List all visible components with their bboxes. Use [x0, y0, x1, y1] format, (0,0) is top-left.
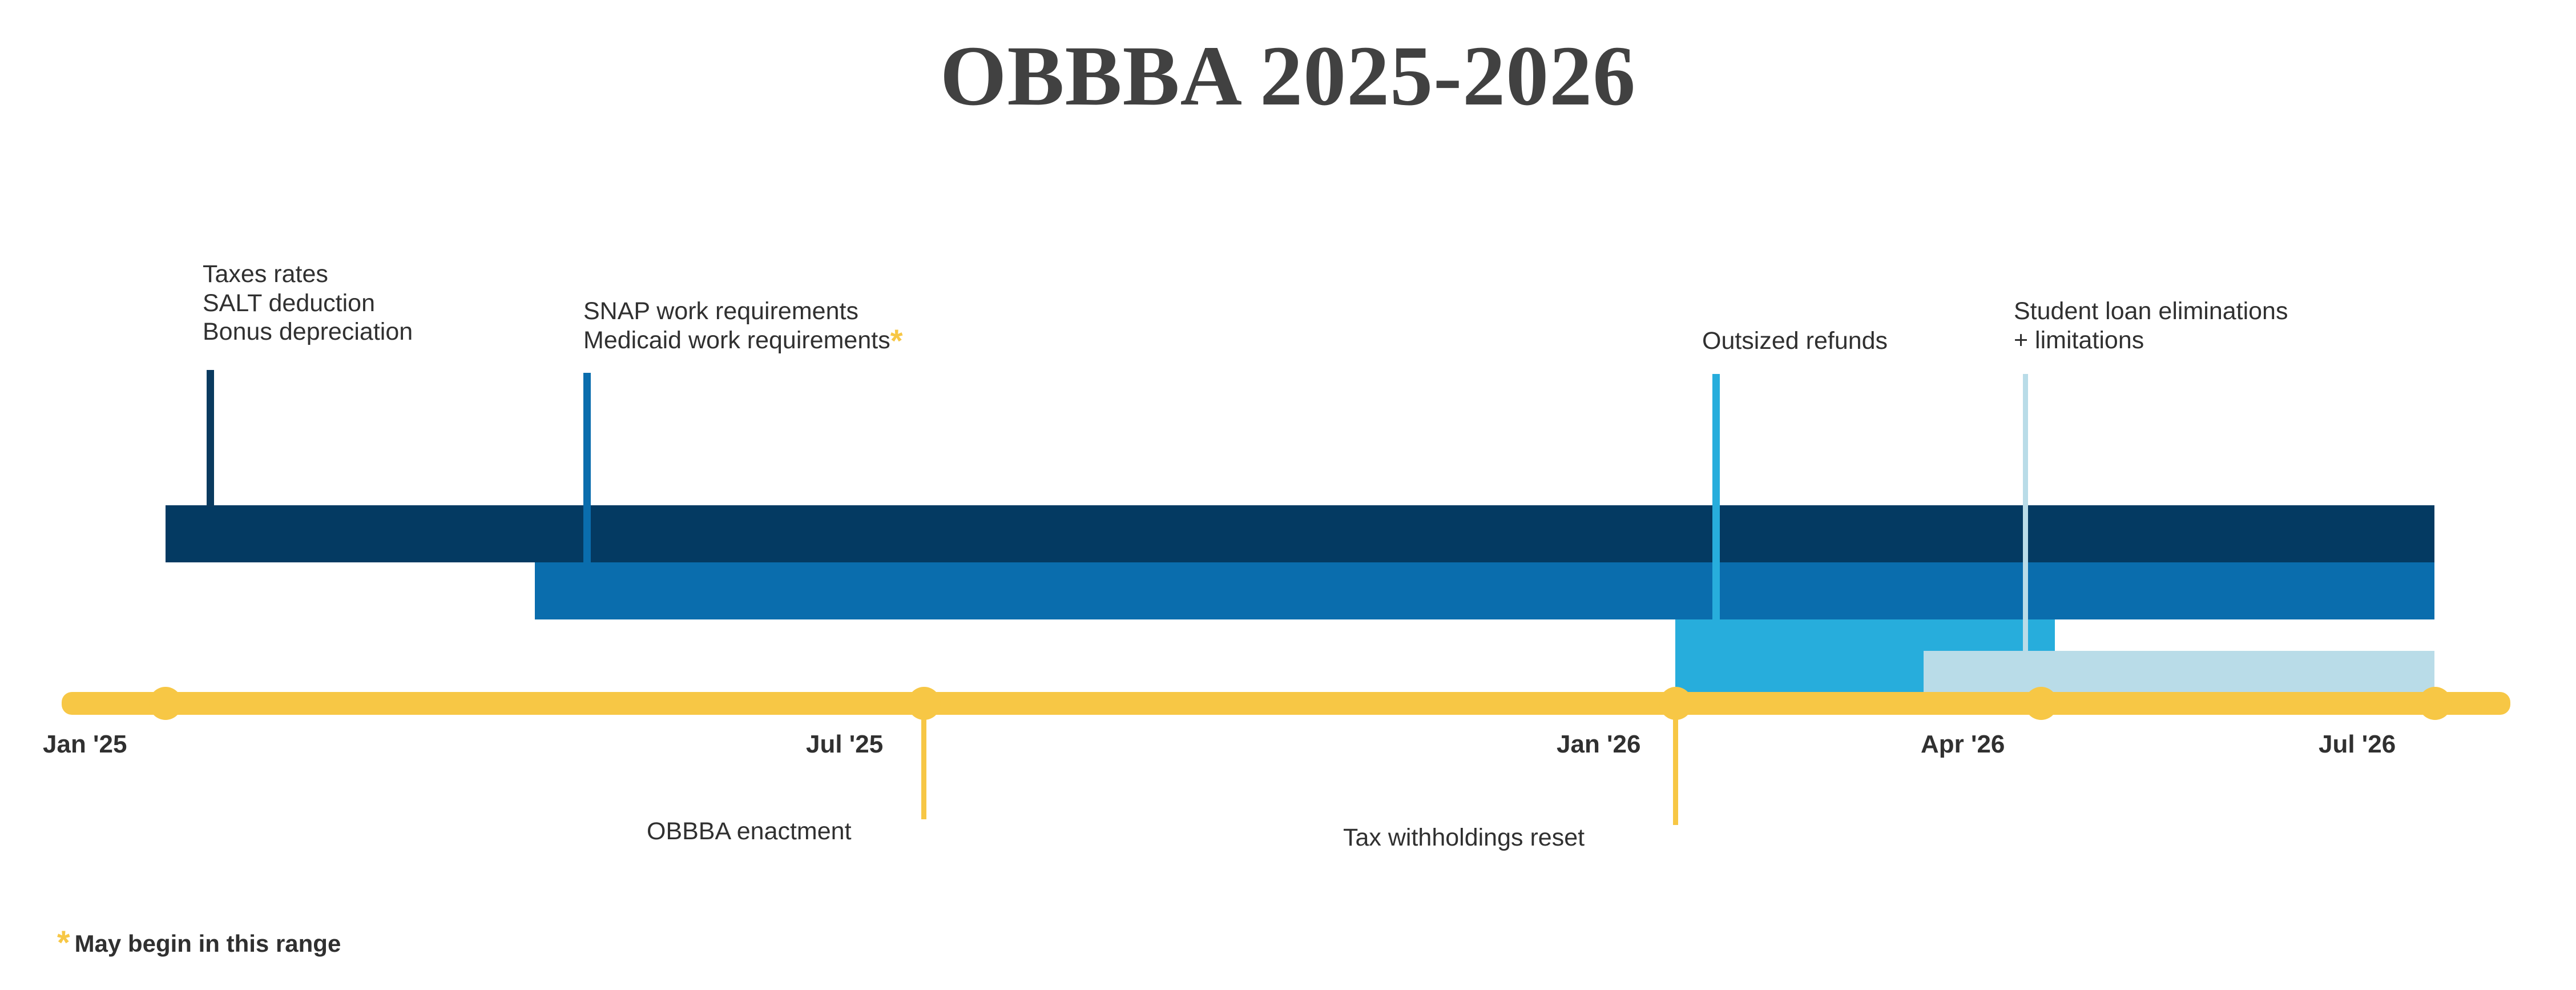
callout-student-loan-group: Student loan eliminations + limitations — [2014, 297, 2288, 355]
callout-line: SNAP work requirements — [583, 297, 903, 326]
below-axis-label-obbba-enactment: OBBBA enactment — [647, 818, 852, 846]
asterisk-marker-icon: * — [890, 323, 903, 359]
callout-line: Outsized refunds — [1702, 327, 1888, 356]
drop-line-obbba-enactment — [921, 717, 926, 819]
band-work-requirements — [535, 562, 2434, 619]
axis-dot-jan-25[interactable] — [149, 687, 182, 720]
leader-line-student-loan — [2023, 374, 2028, 653]
axis-tick-label-jul-25: Jul '25 — [806, 730, 883, 759]
axis-dot-jul-26[interactable] — [2418, 687, 2452, 720]
callout-work-requirements-group: SNAP work requirements Medicaid work req… — [583, 297, 903, 355]
axis-dot-jan-26[interactable] — [1659, 687, 1692, 720]
footnote-text: May begin in this range — [75, 930, 341, 957]
axis-tick-label-jul-26: Jul '26 — [2319, 730, 2396, 759]
timeline-axis — [62, 692, 2510, 715]
axis-tick-label-jan-25: Jan '25 — [43, 730, 127, 759]
callout-line: Taxes rates — [203, 260, 413, 289]
callout-line: Student loan eliminations — [2014, 297, 2288, 326]
drop-line-tax-withholdings-reset — [1673, 717, 1678, 825]
callout-line: SALT deduction — [203, 289, 413, 318]
callout-line: + limitations — [2014, 326, 2288, 355]
footnote: *May begin in this range — [57, 924, 341, 962]
callout-line: Bonus depreciation — [203, 317, 413, 347]
axis-tick-label-jan-26: Jan '26 — [1557, 730, 1640, 759]
callout-outsized-refunds: Outsized refunds — [1702, 327, 1888, 356]
page-title: OBBBA 2025-2026 — [0, 31, 2576, 122]
asterisk-footnote-icon: * — [57, 924, 70, 961]
callout-line-text: Medicaid work requirements — [583, 327, 890, 354]
callout-taxes-rates-group: Taxes rates SALT deduction Bonus depreci… — [203, 260, 413, 347]
callout-line: Medicaid work requirements* — [583, 326, 903, 355]
band-taxes-rates — [166, 505, 2434, 562]
axis-tick-label-apr-26: Apr '26 — [1921, 730, 2005, 759]
timeline-infographic: OBBBA 2025-2026 Taxes rates SALT deducti… — [0, 0, 2576, 990]
leader-line-work-requirements — [583, 373, 591, 564]
below-axis-label-tax-withholdings-reset: Tax withholdings reset — [1343, 824, 1585, 852]
axis-dot-jul-25[interactable] — [908, 687, 941, 720]
axis-dot-apr-26[interactable] — [2025, 687, 2058, 720]
leader-line-taxes-rates — [207, 370, 214, 507]
leader-line-outsized-refunds — [1712, 374, 1720, 621]
